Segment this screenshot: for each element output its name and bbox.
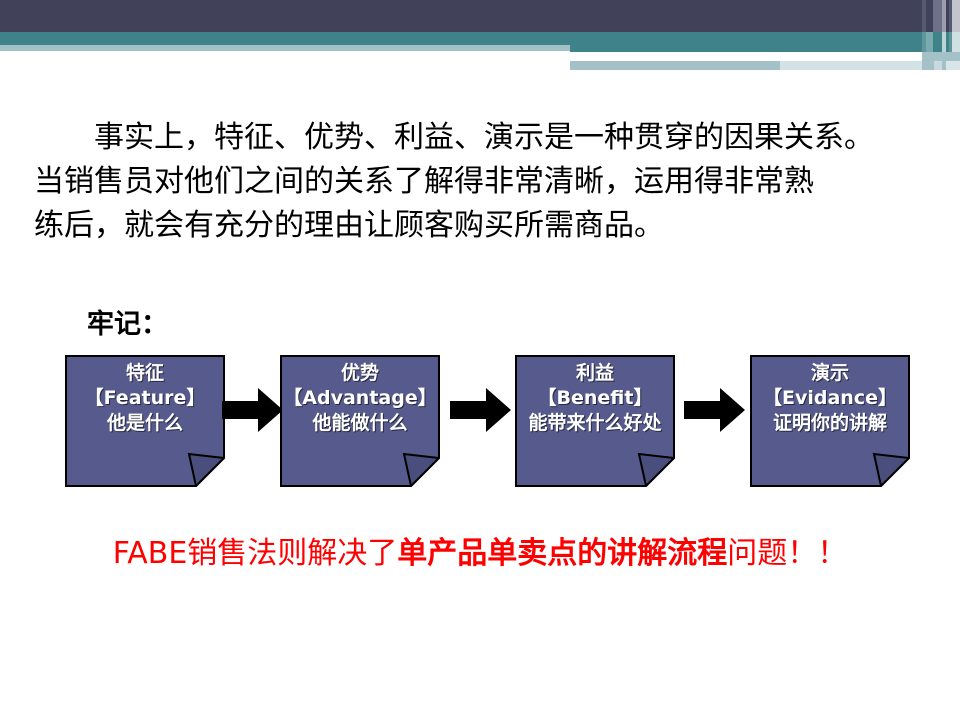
header-vertical-stripe — [933, 0, 942, 32]
flow-node-line1: 演示 — [744, 361, 916, 386]
header-vertical-stripe — [952, 0, 960, 32]
flow-node-label: 优势 【Advantage】 他能做什么 — [274, 361, 446, 436]
header-band-teal-right — [570, 45, 960, 52]
header-band-teal — [0, 32, 960, 45]
conclusion-suffix: 问题！！ — [727, 536, 847, 571]
flow-node-line3: 证明你的讲解 — [744, 411, 916, 436]
header-vertical-stripe — [946, 61, 960, 70]
header-band-white-gap — [570, 54, 922, 60]
header-vertical-stripe — [933, 32, 942, 52]
flow-node-line1: 特征 — [59, 361, 231, 386]
flow-arrow-right-icon — [450, 387, 512, 433]
flow-node-label: 演示 【Evidance】 证明你的讲解 — [744, 361, 916, 436]
flow-node-line2: 【Evidance】 — [744, 386, 916, 411]
body-paragraph: 事实上，特征、优势、利益、演示是一种贯穿的因果关系。 当销售员对他们之间的关系了… — [34, 116, 934, 248]
flow-node-line2: 【Feature】 — [59, 386, 231, 411]
flow-arrow-right-icon — [684, 387, 746, 433]
conclusion-text: FABE销售法则解决了单产品单卖点的讲解流程问题！！ — [0, 528, 960, 572]
header-band-navy — [0, 0, 960, 32]
flow-node-feature[interactable]: 特征 【Feature】 他是什么 — [65, 355, 225, 487]
header-band-grayblue-1 — [922, 52, 960, 61]
header-vertical-stripe — [926, 0, 933, 32]
conclusion-prefix: FABE销售法则解决了 — [113, 536, 398, 571]
flow-node-line2: 【Advantage】 — [274, 386, 446, 411]
flow-node-advantage[interactable]: 优势 【Advantage】 他能做什么 — [280, 355, 440, 487]
flow-node-line3: 他能做什么 — [274, 411, 446, 436]
header-vertical-stripe — [922, 61, 934, 70]
flow-node-evidance[interactable]: 演示 【Evidance】 证明你的讲解 — [750, 355, 910, 487]
flow-node-line2: 【Benefit】 — [509, 386, 681, 411]
header-vertical-stripe — [926, 32, 933, 52]
flow-node-line3: 能带来什么好处 — [509, 411, 681, 436]
conclusion-emphasis: 单产品单卖点的讲解流程 — [397, 536, 727, 571]
flow-node-benefit[interactable]: 利益 【Benefit】 能带来什么好处 — [515, 355, 675, 487]
header-vertical-stripe — [934, 61, 942, 70]
header-vertical-stripe — [952, 32, 960, 52]
remember-label: 牢记： — [87, 302, 168, 341]
header-banner — [0, 0, 960, 78]
flow-node-line1: 优势 — [274, 361, 446, 386]
flow-node-label: 利益 【Benefit】 能带来什么好处 — [509, 361, 681, 436]
flow-node-line1: 利益 — [509, 361, 681, 386]
fabe-flow-diagram: 特征 【Feature】 他是什么 优势 【Advantage】 他能做什么 — [0, 355, 960, 500]
flow-node-line3: 他是什么 — [59, 411, 231, 436]
flow-node-label: 特征 【Feature】 他是什么 — [59, 361, 231, 436]
